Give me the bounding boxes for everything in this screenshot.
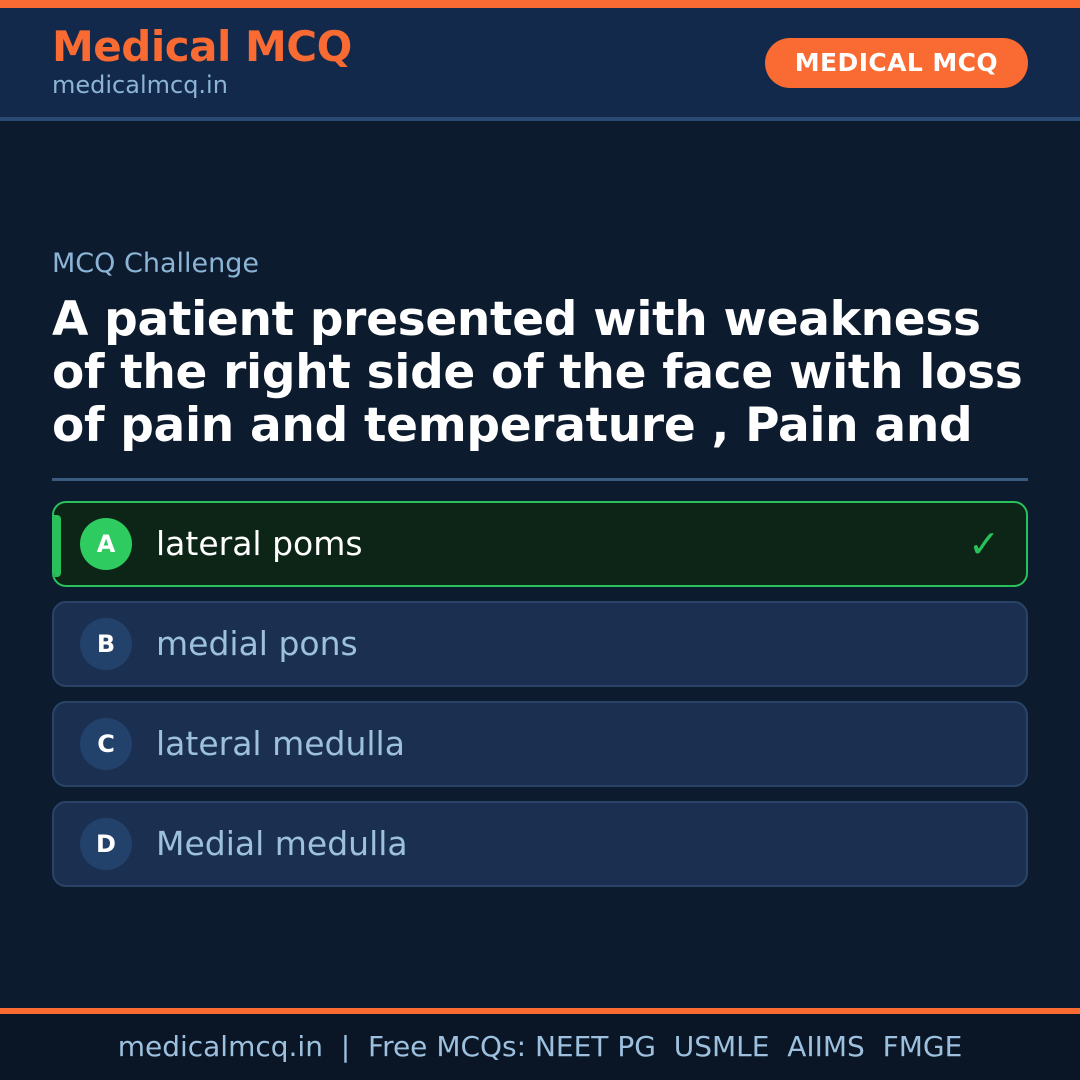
option-label: Medial medulla (156, 826, 968, 862)
question-divider (52, 478, 1028, 481)
option-a[interactable]: A lateral poms ✓ (52, 501, 1028, 587)
question-text: A patient presented with weakness of the… (52, 293, 1028, 452)
brand: Medical MCQ medicalmcq.in (52, 25, 352, 101)
option-letter-badge: D (80, 818, 132, 870)
footer-text: medicalmcq.in | Free MCQs: NEET PG USMLE… (118, 1033, 963, 1061)
correct-accent-bar (54, 515, 61, 577)
mcq-card-page: Medical MCQ medicalmcq.in MEDICAL MCQ MC… (0, 0, 1080, 1080)
brand-title: Medical MCQ (52, 25, 352, 69)
options-list: A lateral poms ✓ B medial pons ✓ C later… (52, 501, 1028, 887)
brand-subtitle: medicalmcq.in (52, 70, 352, 100)
top-accent-bar (0, 0, 1080, 8)
option-label: lateral medulla (156, 726, 968, 762)
option-letter-badge: C (80, 718, 132, 770)
main-content: MCQ Challenge A patient presented with w… (0, 121, 1080, 1008)
option-c[interactable]: C lateral medulla ✓ (52, 701, 1028, 787)
header-badge: MEDICAL MCQ (765, 38, 1028, 88)
option-b[interactable]: B medial pons ✓ (52, 601, 1028, 687)
option-label: lateral poms (156, 526, 968, 562)
page-header: Medical MCQ medicalmcq.in MEDICAL MCQ (0, 8, 1080, 121)
footer-bar: medicalmcq.in | Free MCQs: NEET PG USMLE… (0, 1014, 1080, 1080)
page-footer: medicalmcq.in | Free MCQs: NEET PG USMLE… (0, 1008, 1080, 1080)
check-icon: ✓ (968, 525, 1000, 563)
option-d[interactable]: D Medial medulla ✓ (52, 801, 1028, 887)
option-letter-badge: B (80, 618, 132, 670)
option-label: medial pons (156, 626, 968, 662)
option-letter-badge: A (80, 518, 132, 570)
kicker-label: MCQ Challenge (52, 249, 1028, 279)
